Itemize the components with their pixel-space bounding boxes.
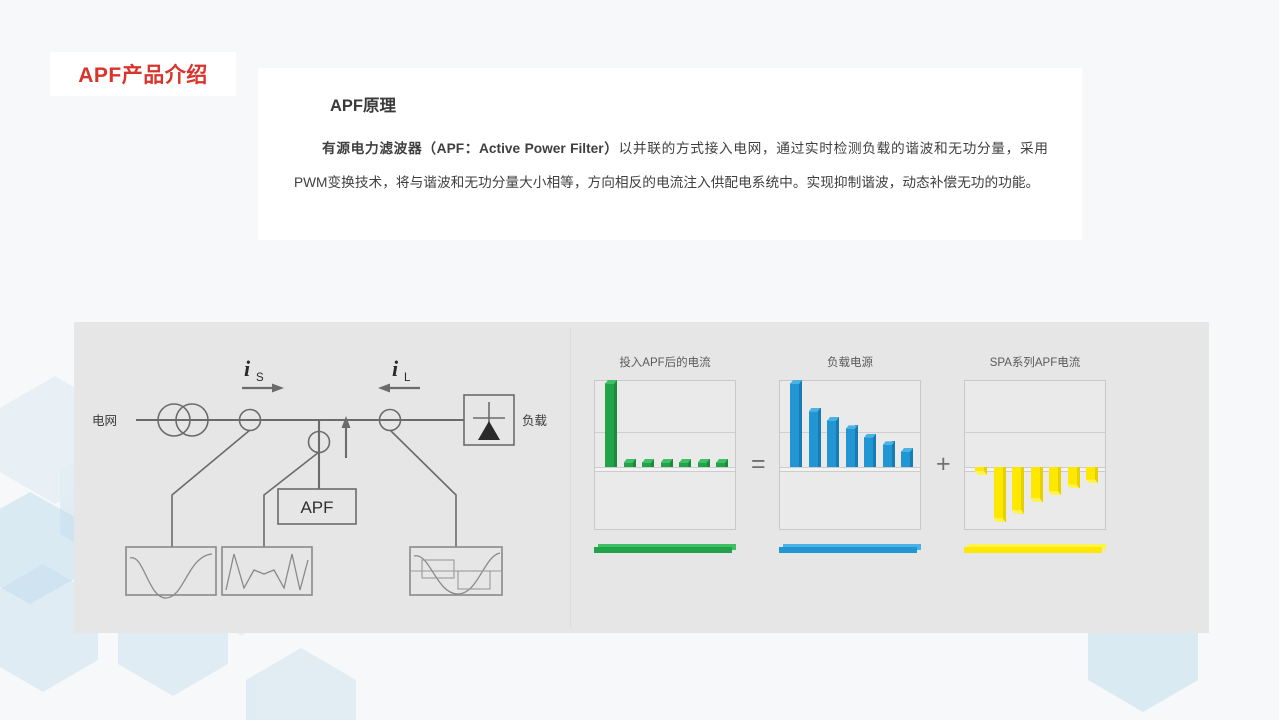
chart-baseline	[595, 467, 735, 472]
chart-bar	[901, 448, 913, 467]
chart-bar	[1012, 467, 1024, 514]
apf-box-label: APF	[300, 498, 333, 517]
chart-bar	[975, 467, 987, 475]
chart-plot-area	[964, 380, 1106, 530]
panel-divider	[570, 328, 571, 627]
chart-plot-area	[779, 380, 921, 530]
chart-bar	[661, 459, 673, 467]
chart-gridline	[965, 432, 1105, 433]
chart-title: 负载电源	[827, 354, 873, 370]
operator-plus: +	[936, 450, 951, 479]
chart-title: SPA系列APF电流	[990, 354, 1081, 370]
operator-equals: =	[751, 450, 766, 479]
current-load-symbol: i	[392, 356, 399, 381]
chart-bar	[1049, 467, 1061, 495]
chart-bar	[624, 459, 636, 467]
chart-group: 投入APF后的电流 = 负载电源 + SPA系列APF电流	[594, 322, 1209, 633]
chart-apf-output-current: 投入APF后的电流	[594, 380, 736, 530]
chart-bar	[864, 434, 876, 467]
current-source-subscript: S	[256, 372, 264, 384]
chart-bar	[994, 467, 1006, 522]
card-body: 有源电力滤波器（APF：Active Power Filter）以并联的方式接入…	[294, 132, 1056, 199]
current-load-subscript: L	[404, 372, 411, 384]
chart-bar	[790, 380, 802, 467]
chart-bar	[679, 459, 691, 467]
grid-label: 电网	[92, 414, 117, 428]
page-title: APF产品介绍	[78, 59, 208, 89]
chart-plinth	[964, 544, 1106, 553]
chart-bar	[642, 459, 654, 467]
chart-load-source: 负载电源	[779, 380, 921, 530]
chart-plot-area	[594, 380, 736, 530]
chart-bar	[827, 417, 839, 467]
chart-plinth	[779, 544, 921, 553]
circuit-diagram: 电网 负载 APF i S i L	[74, 322, 570, 633]
current-source-symbol: i	[244, 356, 251, 381]
chart-bar	[605, 380, 617, 467]
description-card: APF原理 有源电力滤波器（APF：Active Power Filter）以并…	[258, 68, 1082, 240]
chart-bar	[846, 425, 858, 467]
card-body-lead: 有源电力滤波器（APF：Active Power Filter）	[322, 141, 619, 156]
chart-plinth	[594, 544, 736, 553]
diagram-panel: 电网 负载 APF i S i L 投入APF后的电流 = 负载电源 + SPA…	[74, 322, 1209, 633]
chart-bar	[809, 408, 821, 467]
slide-title-chip: APF产品介绍	[50, 52, 236, 96]
chart-bar	[1031, 467, 1043, 502]
chart-bar	[716, 459, 728, 467]
chart-spa-apf-current: SPA系列APF电流	[964, 380, 1106, 530]
chart-bar	[883, 441, 895, 467]
chart-baseline	[780, 467, 920, 472]
chart-bar	[1086, 467, 1098, 483]
chart-bar	[1068, 467, 1080, 488]
thyristor-icon	[478, 421, 500, 440]
load-label: 负载	[522, 414, 548, 428]
chart-title: 投入APF后的电流	[619, 354, 710, 370]
card-heading: APF原理	[330, 92, 1056, 116]
chart-bar	[698, 459, 710, 467]
